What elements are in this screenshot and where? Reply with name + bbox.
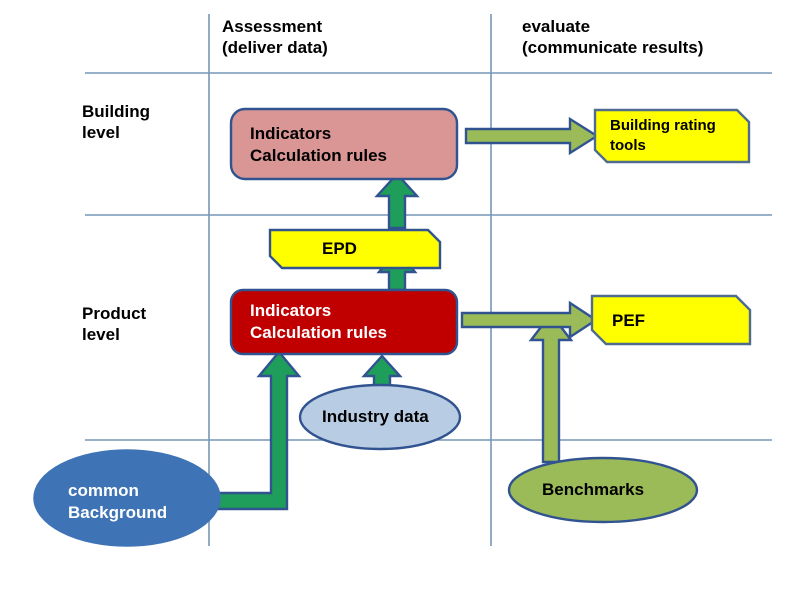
node-pef[interactable] <box>592 296 750 344</box>
node-industry-data[interactable] <box>300 385 460 449</box>
column-header-assessment: Assessment (deliver data) <box>222 16 328 59</box>
column-header-evaluate: evaluate (communicate results) <box>522 16 703 59</box>
node-building-indicators[interactable] <box>231 109 457 179</box>
arrow-epd-to-building <box>377 174 417 228</box>
node-epd[interactable] <box>270 230 440 268</box>
row-header-product-level: Product level <box>82 303 146 346</box>
diagram-svg <box>0 0 800 600</box>
node-common-background[interactable] <box>34 450 220 546</box>
row-header-building-level: Building level <box>82 101 150 144</box>
diagram-canvas: Assessment (deliver data) evaluate (comm… <box>0 0 800 600</box>
arrow-product-to-pef <box>462 303 596 337</box>
node-product-indicators[interactable] <box>231 290 457 354</box>
node-building-rating-tools[interactable] <box>595 110 749 162</box>
node-benchmarks[interactable] <box>509 458 697 522</box>
arrow-building-to-rating-tools <box>466 119 597 153</box>
